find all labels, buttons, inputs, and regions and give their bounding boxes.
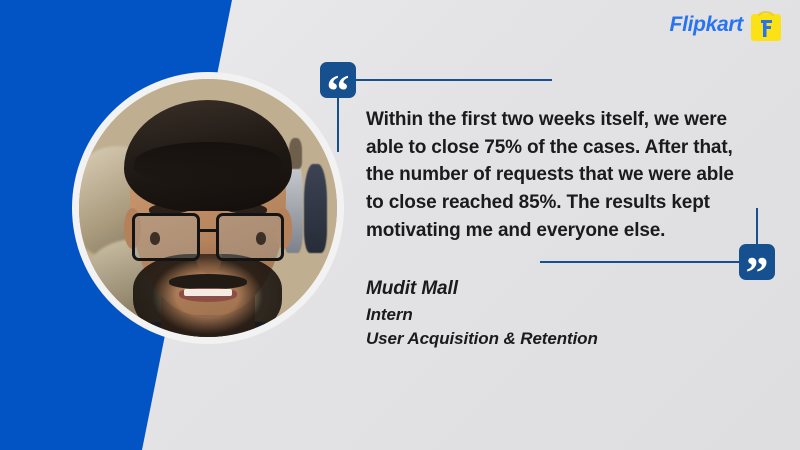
author-team: User Acquisition & Retention xyxy=(366,327,598,351)
quote-text: Within the first two weeks itself, we we… xyxy=(366,106,742,245)
eyeglasses-icon xyxy=(132,213,285,261)
avatar xyxy=(72,72,344,344)
quote-rule-bottom xyxy=(540,261,740,263)
opening-quote-glyph: “ xyxy=(327,68,350,114)
flipkart-logo: Flipkart xyxy=(670,8,782,42)
opening-quote-badge: “ xyxy=(320,62,356,98)
quote-rule-top xyxy=(356,79,552,81)
author-attribution: Mudit Mall Intern User Acquisition & Ret… xyxy=(366,276,598,351)
quote-rule-close-vertical xyxy=(756,208,758,245)
flipkart-wordmark: Flipkart xyxy=(670,13,743,37)
closing-quote-glyph: ” xyxy=(746,250,769,296)
flipkart-bag-icon xyxy=(750,8,782,42)
author-role: Intern xyxy=(366,303,598,327)
author-name: Mudit Mall xyxy=(366,276,598,303)
photo-face xyxy=(110,102,306,337)
closing-quote-badge: ” xyxy=(739,244,775,280)
testimonial-card: Flipkart “ Within the first two weeks it… xyxy=(0,0,800,450)
portrait-photo xyxy=(79,79,337,337)
